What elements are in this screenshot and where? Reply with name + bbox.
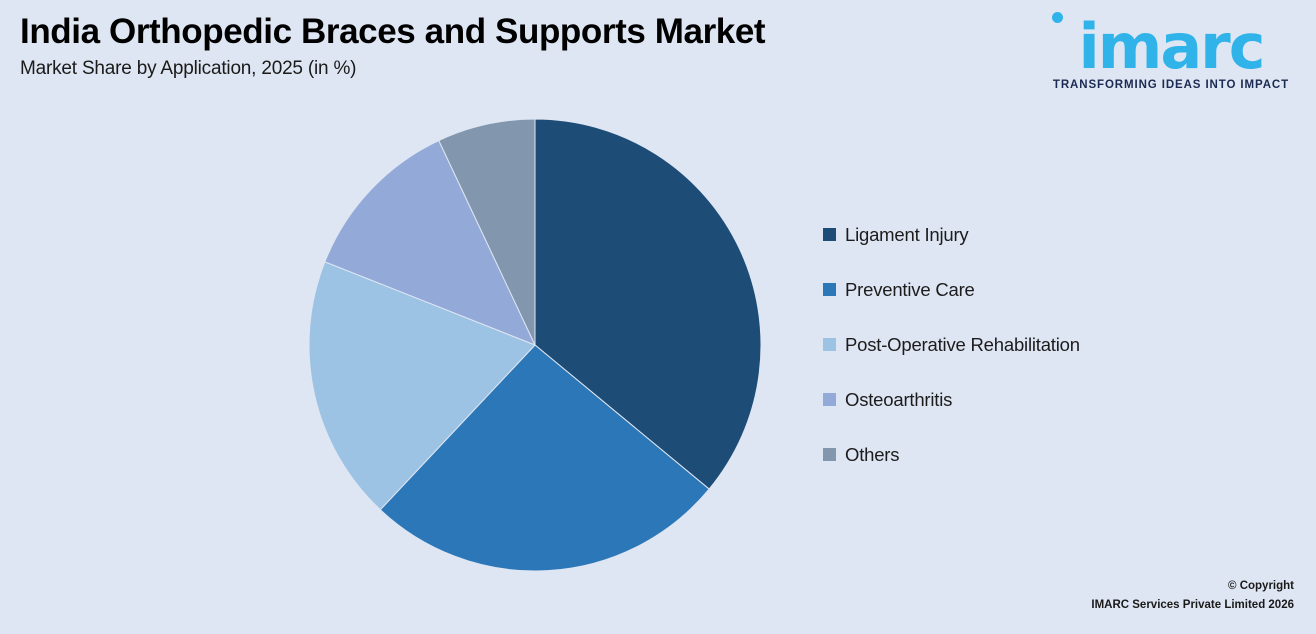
legend-item-post-operative-rehabilitation[interactable]: Post-Operative Rehabilitation xyxy=(823,317,1243,372)
page-subtitle: Market Share by Application, 2025 (in %) xyxy=(20,58,860,80)
legend-swatch-post-operative-rehabilitation xyxy=(823,338,836,351)
legend-label-ligament-injury: Ligament Injury xyxy=(845,224,968,246)
pie-slice-group xyxy=(309,119,761,571)
pie-chart-svg xyxy=(309,119,761,571)
legend-item-preventive-care[interactable]: Preventive Care xyxy=(823,262,1243,317)
footer-copyright: © Copyright xyxy=(1091,577,1294,597)
brand-logo: imarc TRANSFORMING IDEAS INTO IMPACT xyxy=(1036,10,1306,91)
pie-chart xyxy=(309,119,761,571)
legend-swatch-preventive-care xyxy=(823,283,836,296)
legend-label-osteoarthritis: Osteoarthritis xyxy=(845,389,952,411)
legend-item-osteoarthritis[interactable]: Osteoarthritis xyxy=(823,372,1243,427)
chart-legend: Ligament Injury Preventive Care Post-Ope… xyxy=(823,207,1243,482)
legend-swatch-others xyxy=(823,448,836,461)
page-title: India Orthopedic Braces and Supports Mar… xyxy=(20,12,860,52)
brand-dot-icon xyxy=(1052,12,1063,23)
footer-company: IMARC Services Private Limited 2026 xyxy=(1091,596,1294,616)
legend-label-others: Others xyxy=(845,444,899,466)
legend-label-post-operative-rehabilitation: Post-Operative Rehabilitation xyxy=(845,334,1080,356)
footer: © Copyright IMARC Services Private Limit… xyxy=(1091,577,1294,616)
legend-swatch-osteoarthritis xyxy=(823,393,836,406)
brand-tagline: TRANSFORMING IDEAS INTO IMPACT xyxy=(1036,79,1306,91)
legend-label-preventive-care: Preventive Care xyxy=(845,279,975,301)
legend-swatch-ligament-injury xyxy=(823,228,836,241)
legend-item-others[interactable]: Others xyxy=(823,427,1243,482)
chart-header: India Orthopedic Braces and Supports Mar… xyxy=(20,12,860,80)
legend-item-ligament-injury[interactable]: Ligament Injury xyxy=(823,207,1243,262)
brand-wordmark: imarc xyxy=(1036,18,1306,77)
chart-page: India Orthopedic Braces and Supports Mar… xyxy=(0,0,1316,634)
